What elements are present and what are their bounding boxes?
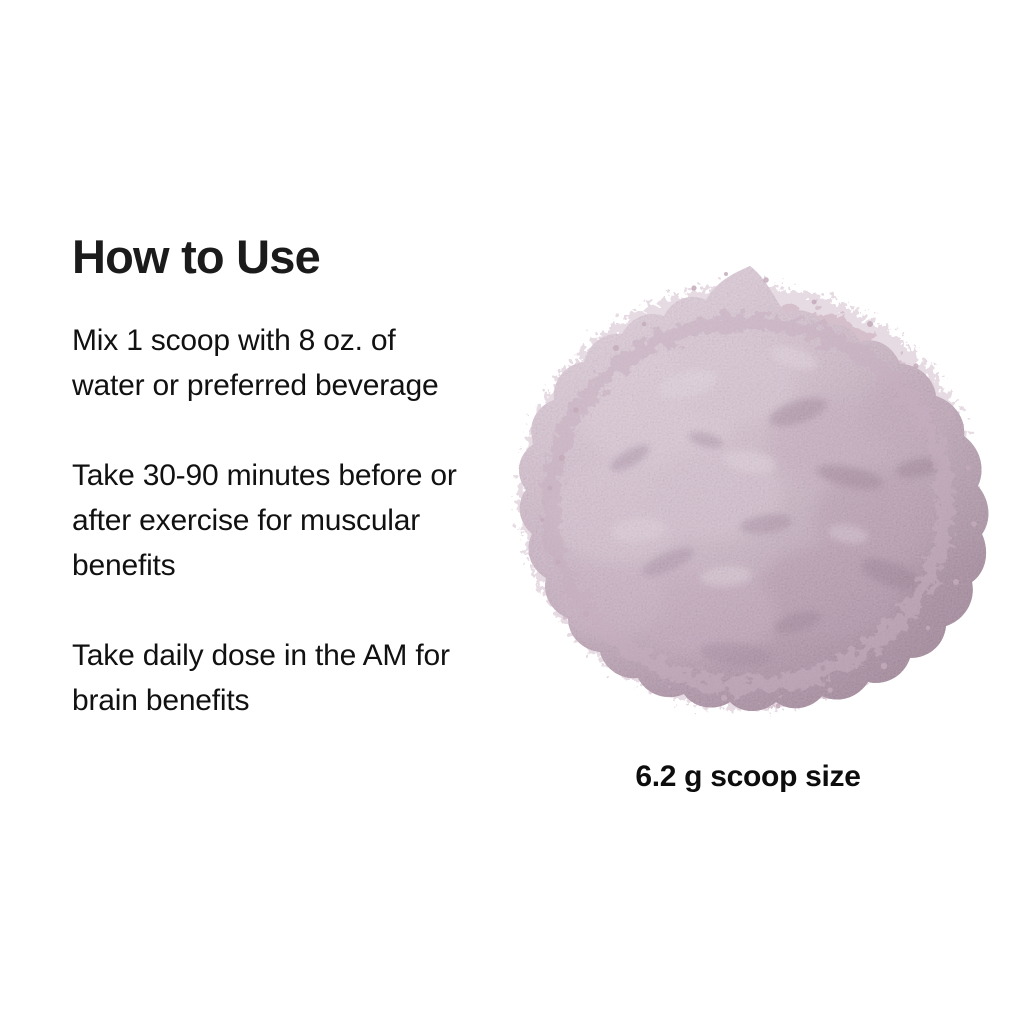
instruction-step-3: Take daily dose in the AM for brain bene… [72,633,457,723]
instruction-step-1: Mix 1 scoop with 8 oz. of water or prefe… [72,318,457,408]
how-to-use-section: How to Use Mix 1 scoop with 8 oz. of wat… [72,228,472,723]
powder-image [498,262,998,732]
product-figure: 6.2 g scoop size [498,262,998,822]
product-instructions-card: How to Use Mix 1 scoop with 8 oz. of wat… [0,0,1024,1024]
powder-body [498,262,998,732]
instruction-list: Mix 1 scoop with 8 oz. of water or prefe… [72,318,472,723]
instruction-step-2: Take 30-90 minutes before or after exerc… [72,453,457,588]
scoop-size-caption: 6.2 g scoop size [498,760,998,794]
powder-pile-illustration [498,262,998,732]
page-title: How to Use [72,228,472,286]
